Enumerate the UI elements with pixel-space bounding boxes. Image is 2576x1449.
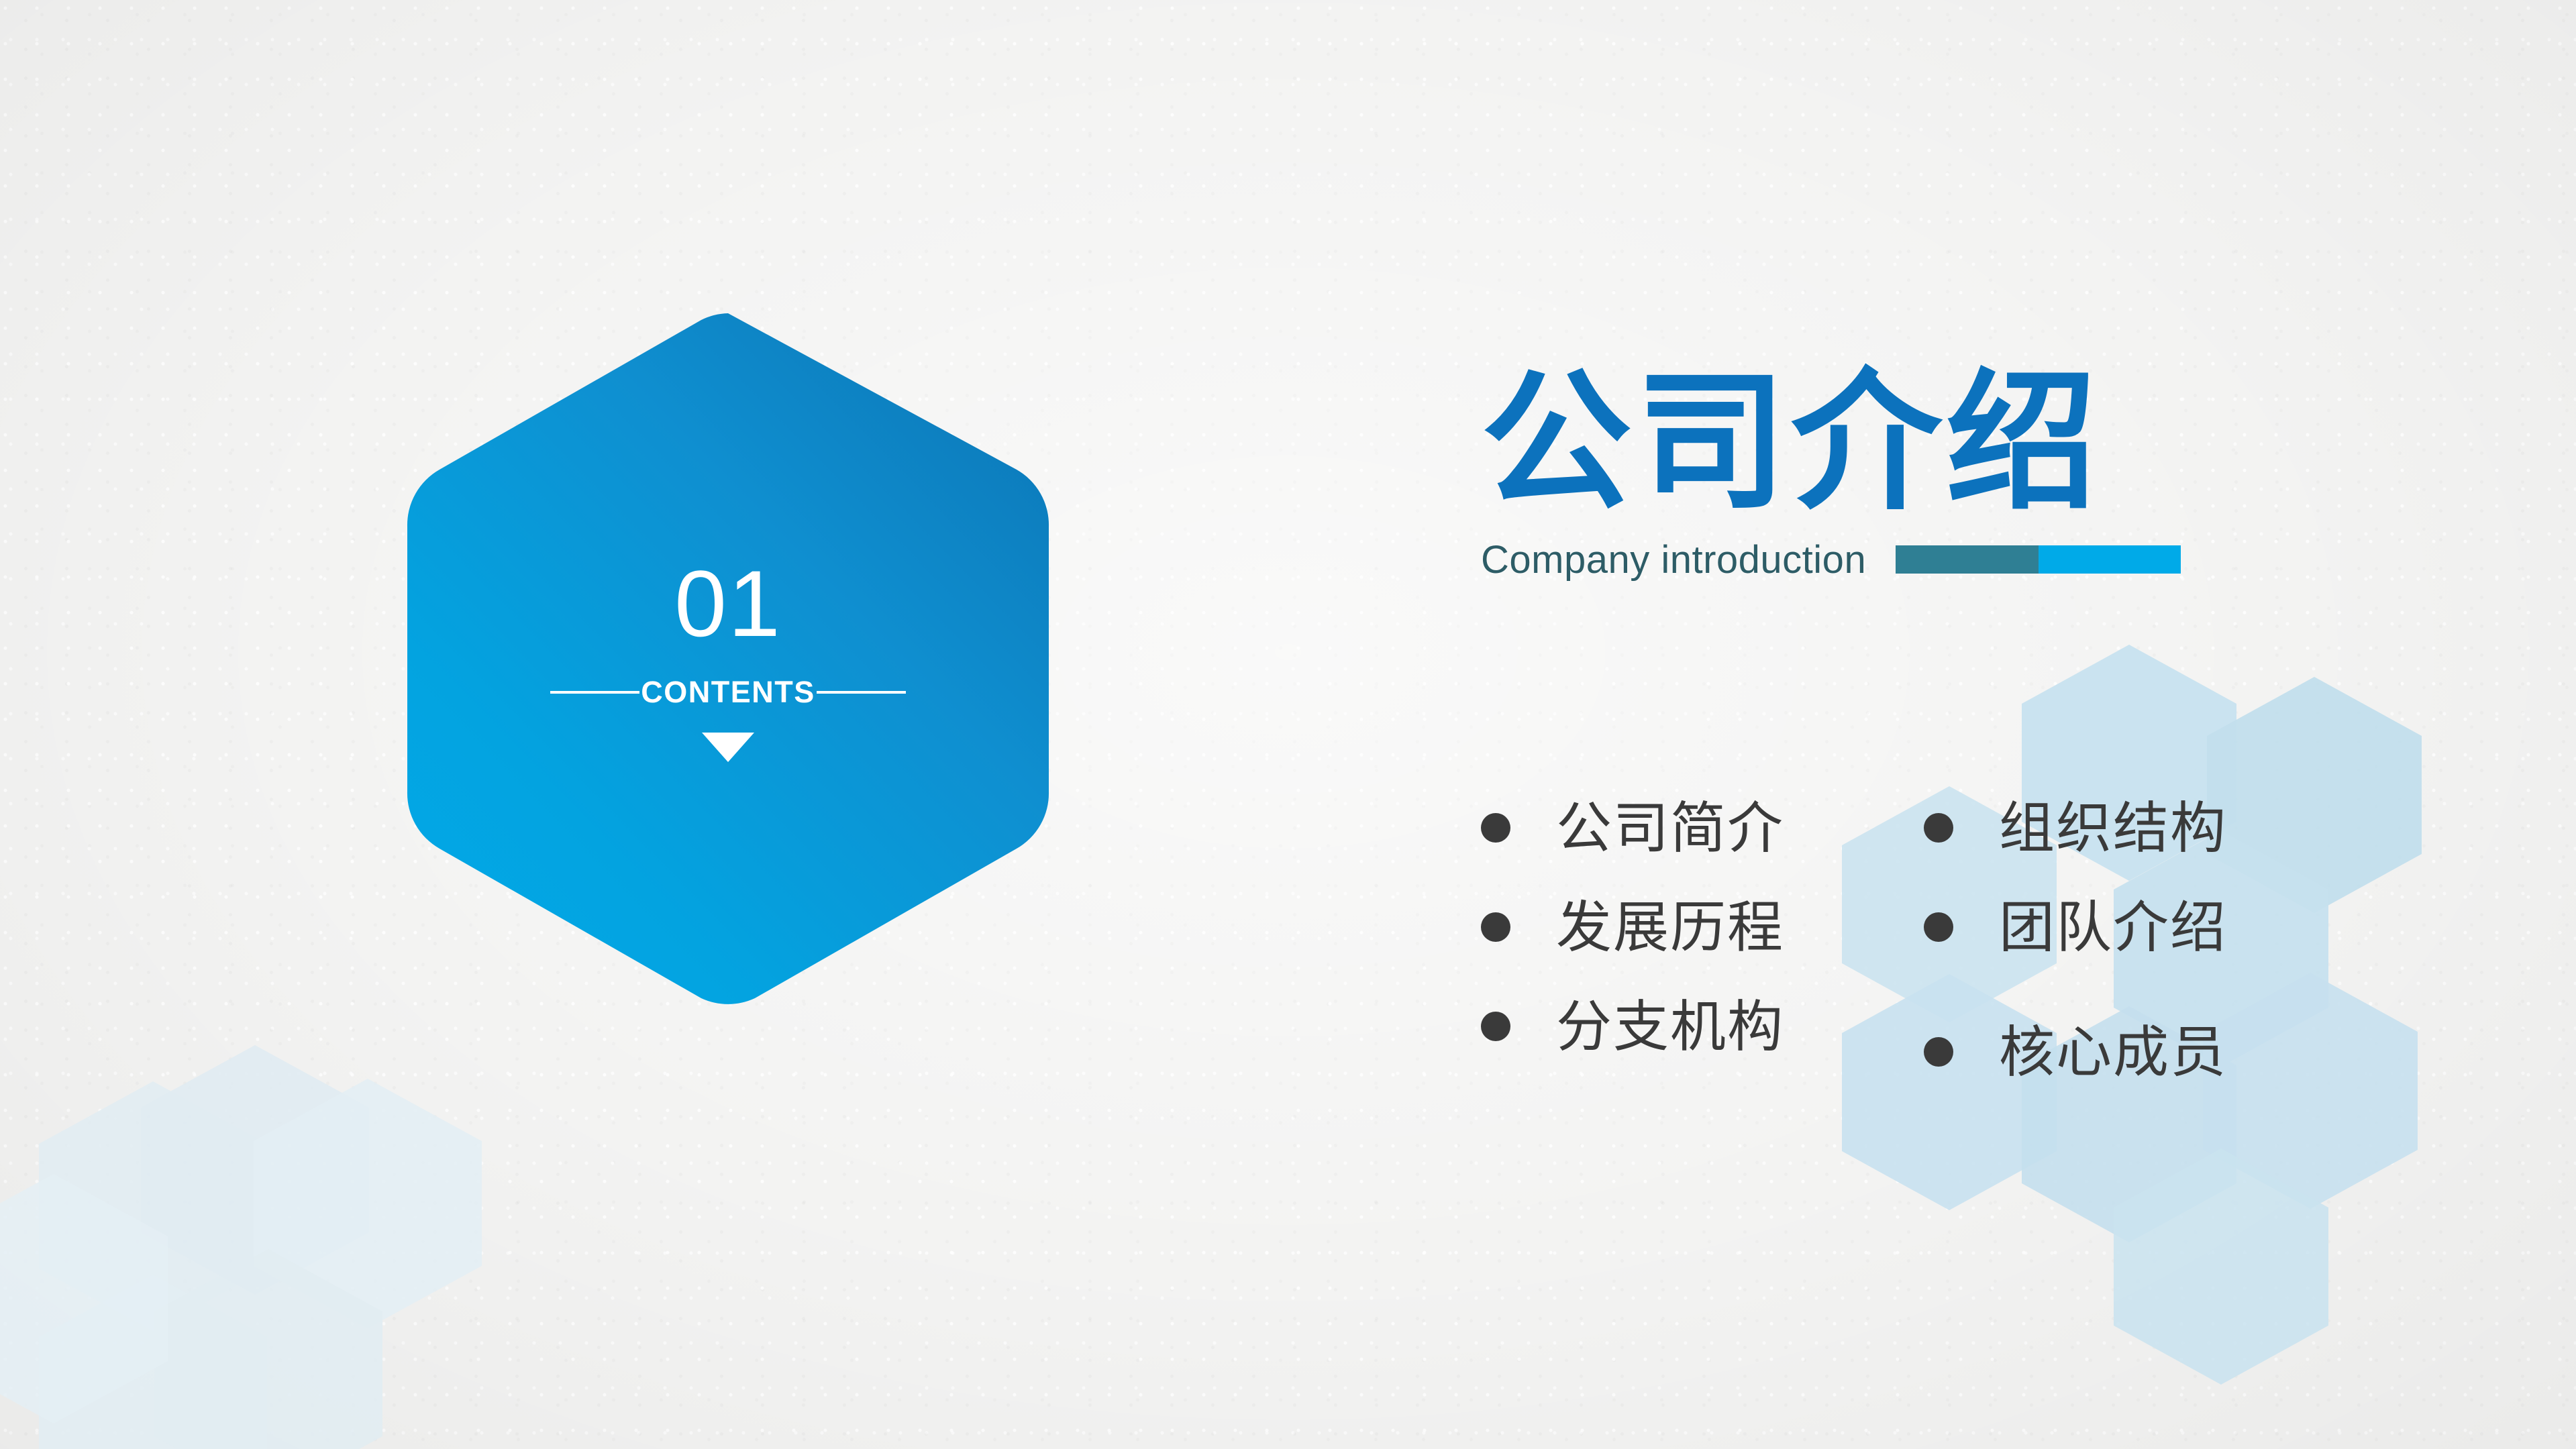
bullet-dot-icon (1481, 912, 1510, 942)
list-item-label: 分支机构 (1556, 999, 1784, 1055)
list-item-label: 公司简介 (1556, 800, 1784, 856)
chevron-down-icon (702, 733, 754, 762)
list-item-label: 组织结构 (1999, 800, 2227, 856)
subtitle-row: Company introduction (1481, 537, 2487, 582)
list-item-label: 团队介绍 (1999, 900, 2227, 955)
bullet-dot-icon (1924, 912, 1953, 942)
title-block: 公司介绍 Company introduction (1481, 362, 2487, 582)
accent-bar-segment-cyan (2039, 545, 2181, 574)
list-item[interactable]: 分支机构 (1481, 977, 1924, 1076)
badge-contents-row: CONTENTS (550, 675, 906, 710)
agenda-list: 公司简介 发展历程 分支机构 组织结构 团队介绍 (1481, 778, 2454, 1102)
list-item[interactable]: 团队介绍 (1924, 877, 2367, 977)
list-item[interactable]: 公司简介 (1481, 778, 1924, 877)
agenda-column-right: 组织结构 团队介绍 核心成员 (1924, 778, 2367, 1102)
badge-rule-right (817, 691, 906, 694)
accent-bar (1896, 545, 2181, 574)
bullet-dot-icon (1481, 813, 1510, 843)
bullet-dot-icon (1924, 813, 1953, 843)
list-item-label: 核心成员 (1999, 1024, 2227, 1080)
badge-number: 01 (674, 557, 782, 651)
agenda-column-left: 公司简介 发展历程 分支机构 (1481, 778, 1924, 1102)
list-item[interactable]: 组织结构 (1924, 778, 2367, 877)
badge-contents-label: CONTENTS (639, 675, 817, 710)
list-item[interactable]: 发展历程 (1481, 877, 1924, 977)
list-item[interactable]: 核心成员 (1924, 1002, 2367, 1102)
badge-rule-left (550, 691, 639, 694)
list-item-label: 发展历程 (1556, 900, 1784, 955)
bullet-dot-icon (1481, 1012, 1510, 1041)
presentation-slide: 01 CONTENTS 公司介绍 Company introduction (0, 0, 2576, 1449)
accent-bar-segment-teal (1896, 545, 2039, 574)
page-title: 公司介绍 (1481, 362, 2487, 523)
bullet-dot-icon (1924, 1037, 1953, 1067)
section-number-hexagon-badge: 01 CONTENTS (372, 305, 1084, 1013)
page-subtitle: Company introduction (1481, 537, 1866, 582)
